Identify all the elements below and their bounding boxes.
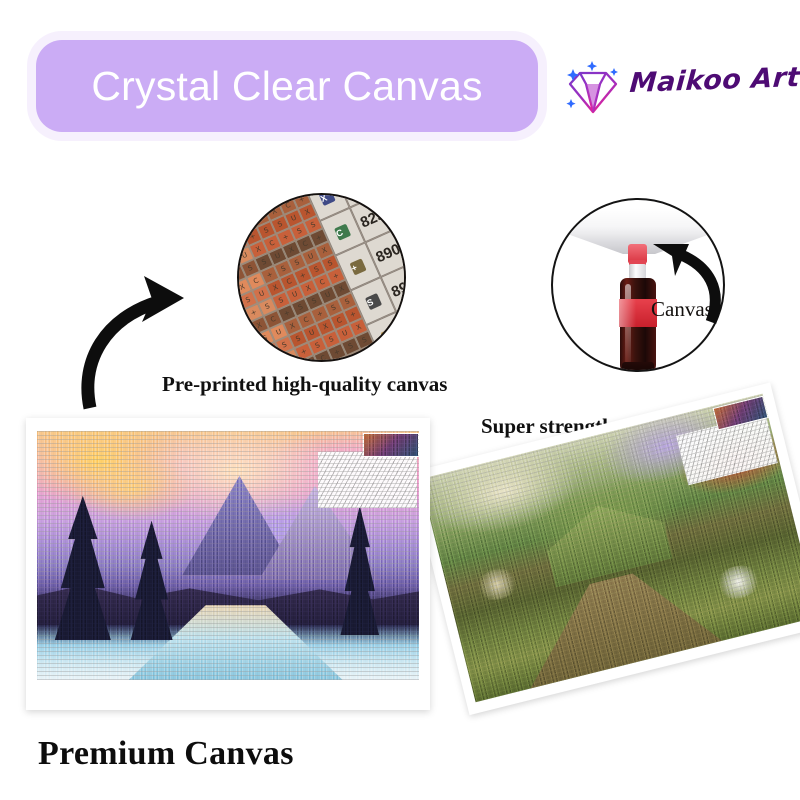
header-title-pill: Crystal Clear Canvas (36, 40, 538, 132)
printed-symbol-cell: U (286, 361, 305, 362)
printed-symbol-cell: U (237, 360, 239, 362)
drill-texture-rows (37, 431, 419, 680)
bottle-base (622, 362, 654, 372)
product-canvas-garden (409, 383, 800, 716)
brand-logo: Maikoo Art (556, 55, 782, 121)
printed-symbol-cell: U (253, 361, 272, 362)
infographic-page: Crystal Clear Canvas (0, 0, 800, 800)
artwork-sunset-mountains (37, 431, 419, 680)
brand-name: Maikoo Art (629, 62, 800, 99)
canvas-callout-label: Canvas (651, 297, 713, 322)
footer-title: Premium Canvas (38, 735, 294, 773)
caption-pre-printed: Pre-printed high-quality canvas (162, 372, 447, 397)
magnifier-canvas-closeup: UXC+SSUXC+SSUXC+SSUXC+SSUXC+SSUXC+SSUXC+… (237, 193, 406, 362)
drill-texture-rows (420, 394, 800, 703)
page-title: Crystal Clear Canvas (91, 63, 482, 110)
artwork-garden (420, 394, 800, 703)
product-canvas-sunset (26, 418, 430, 710)
diamond-icon (562, 59, 624, 119)
adhesive-strength-demo: Canvas (551, 198, 725, 372)
canvas-print-grid: UXC+SSUXC+SSUXC+SSUXC+SSUXC+SSUXC+SSUXC+… (237, 193, 406, 362)
